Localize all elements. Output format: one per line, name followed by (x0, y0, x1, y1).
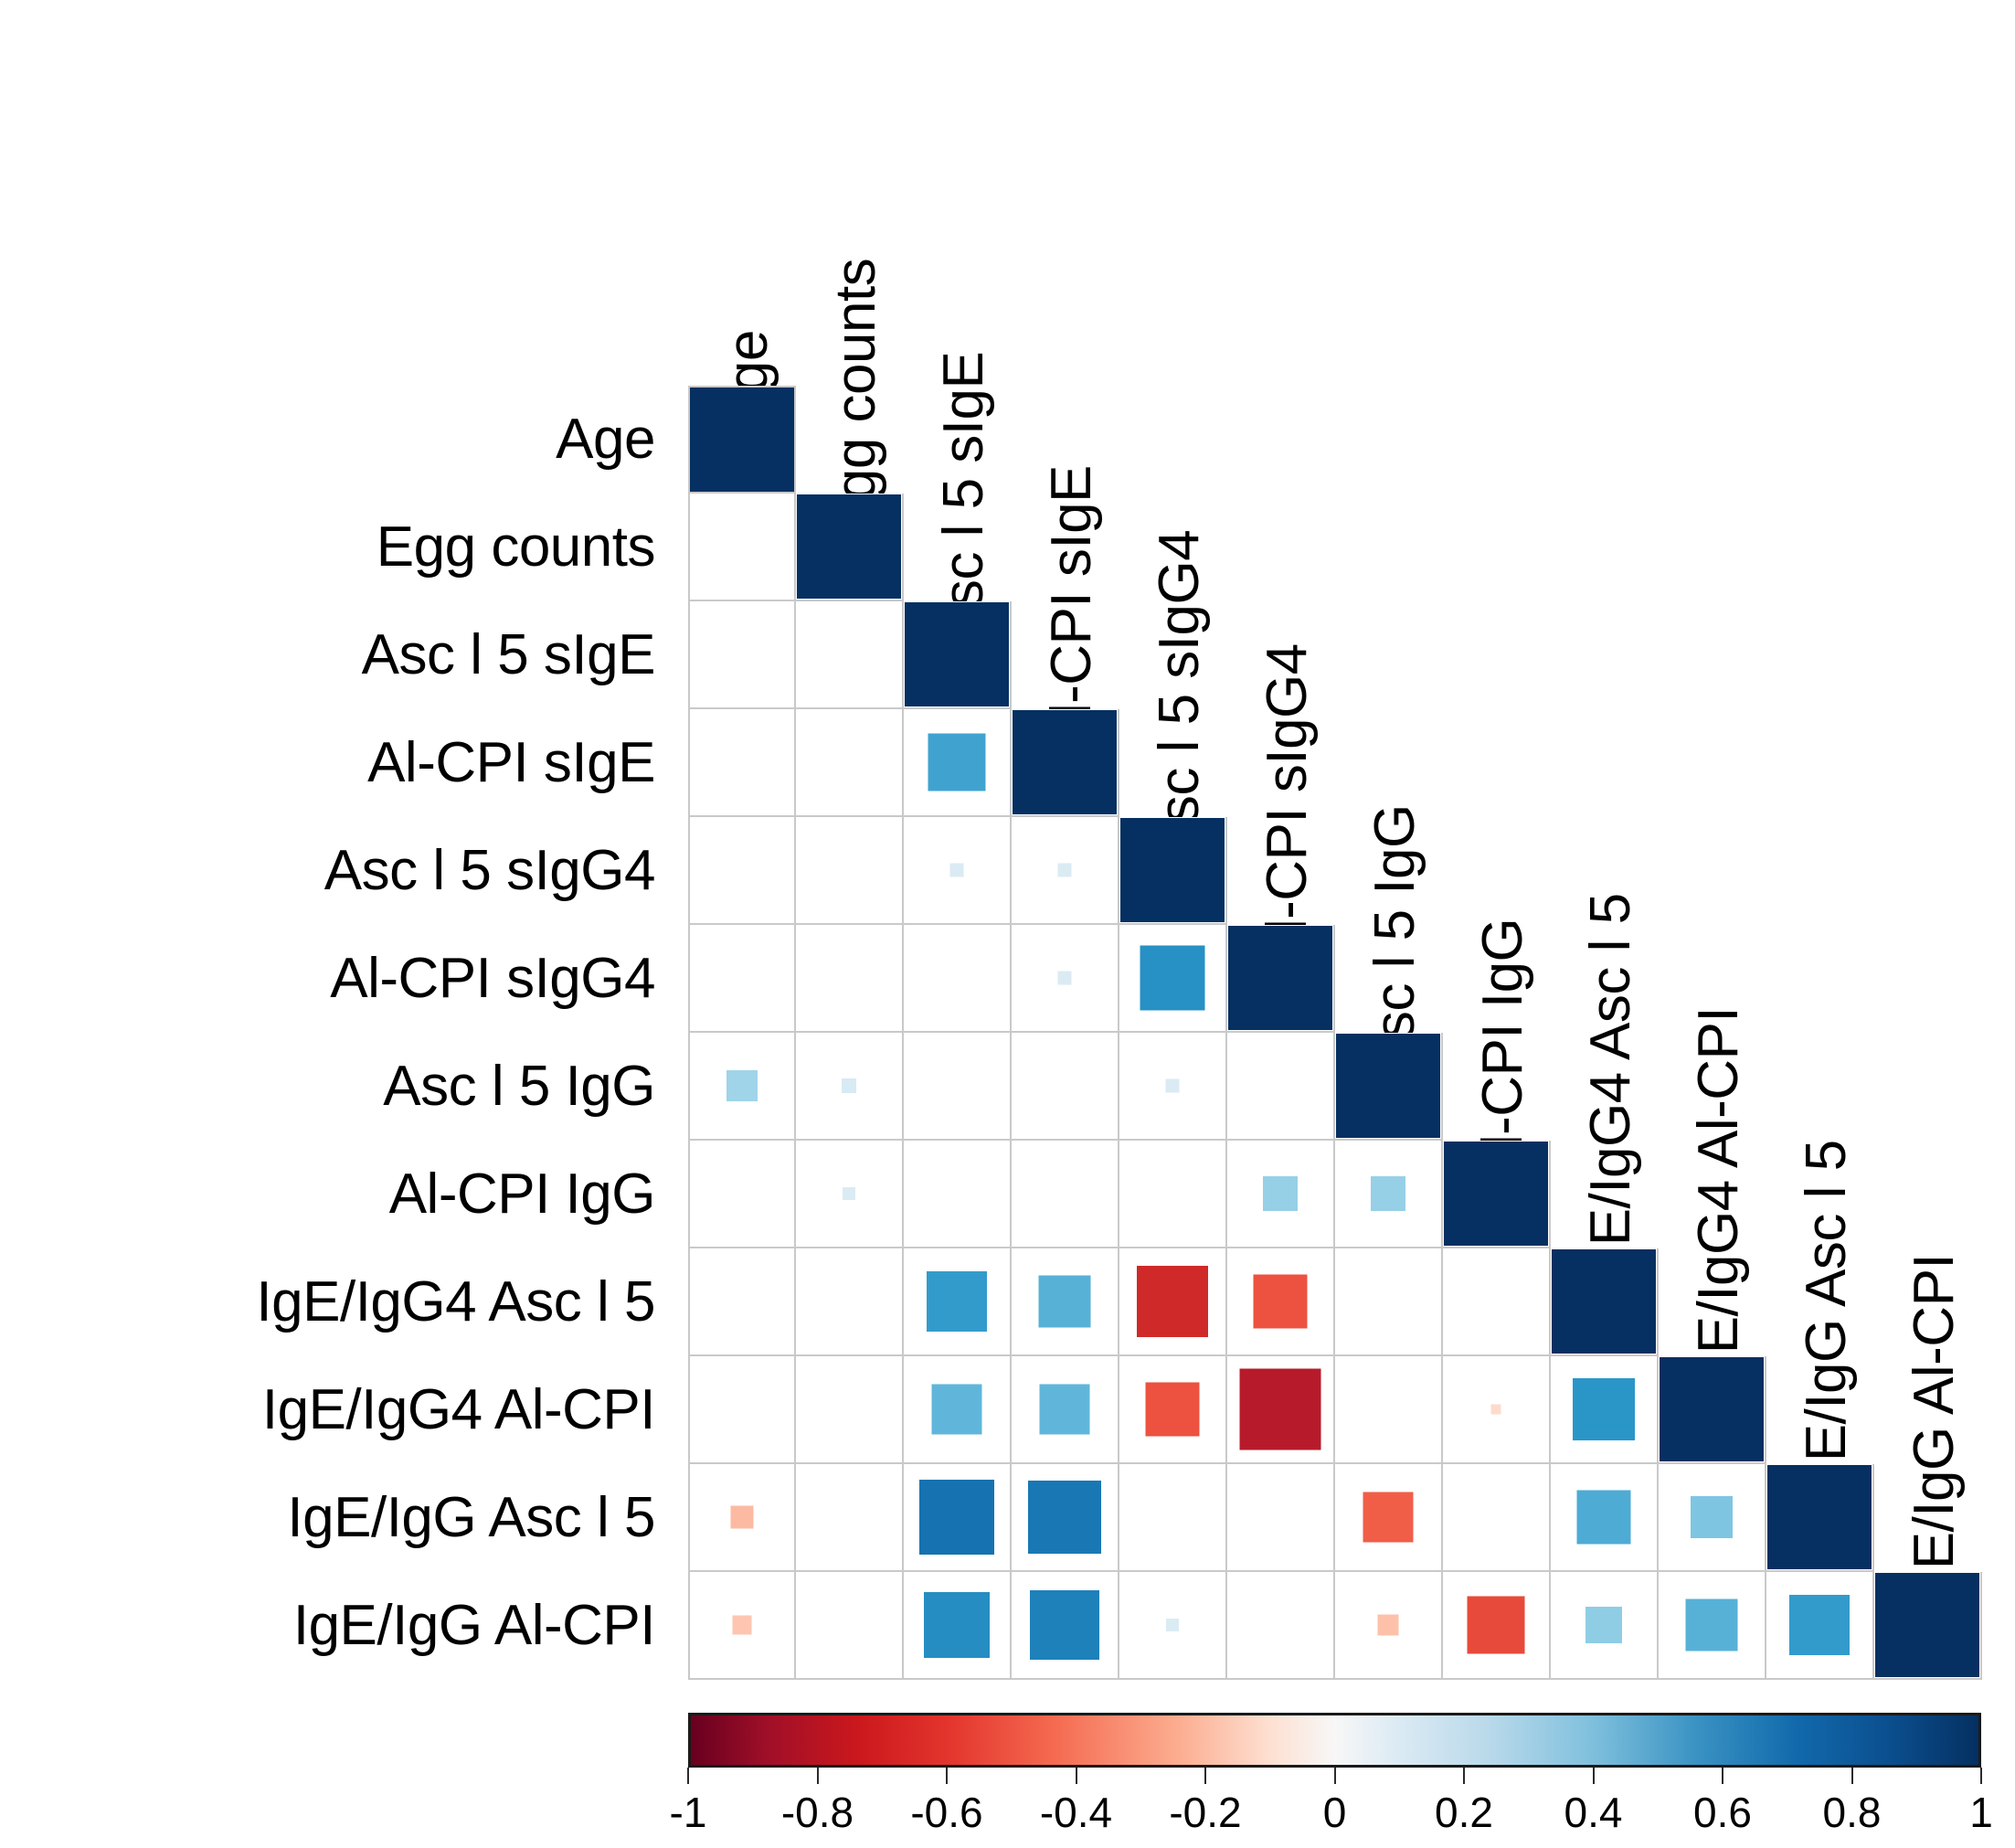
colorbar-tick-label: -0.6 (910, 1788, 982, 1837)
matrix-cell (1766, 1464, 1874, 1572)
matrix-cell (1012, 1033, 1119, 1141)
row-label: Asc l 5 sIgE (0, 601, 672, 709)
correlation-square (690, 388, 794, 492)
matrix-row (688, 1248, 1982, 1356)
correlation-square (731, 1506, 754, 1529)
correlation-square (1585, 1607, 1622, 1643)
matrix-cell (688, 1248, 796, 1356)
correlation-square (1691, 1496, 1733, 1538)
matrix-row (688, 925, 1982, 1033)
colorbar-tick-label: -1 (670, 1788, 707, 1837)
colorbar-tick-label: -0.2 (1169, 1788, 1241, 1837)
matrix-row (688, 709, 1982, 817)
matrix-row (688, 1141, 1982, 1248)
correlation-square (1767, 1465, 1872, 1569)
matrix-cell (1335, 1464, 1443, 1572)
correlation-square (1660, 1357, 1764, 1461)
correlation-square (1137, 1266, 1208, 1337)
matrix-cell (1227, 1572, 1335, 1680)
colorbar-tick (946, 1768, 948, 1784)
matrix-cell (796, 1033, 904, 1141)
matrix-row (688, 494, 1982, 601)
colorbar-tick (1334, 1768, 1336, 1784)
correlation-square (1146, 1383, 1200, 1437)
matrix-cell (1443, 1572, 1551, 1680)
colorbar-tick-label-group: -1-0.8-0.6-0.4-0.200.20.40.60.81 (688, 1784, 1981, 1848)
matrix-cell (904, 925, 1012, 1033)
matrix-cell (796, 1141, 904, 1248)
correlation-square (726, 1070, 758, 1101)
matrix-cell (904, 1033, 1012, 1141)
colorbar-tick-group (688, 1768, 1981, 1784)
correlation-square (1875, 1573, 1979, 1677)
colorbar-tick (1463, 1768, 1465, 1784)
correlation-square (1371, 1176, 1405, 1211)
matrix-cell (796, 709, 904, 817)
correlation-square (1363, 1492, 1414, 1543)
matrix-row (688, 386, 1982, 494)
matrix-cell (904, 601, 1012, 709)
correlation-square (1686, 1599, 1738, 1652)
row-label: Age (0, 386, 672, 494)
matrix-cell (1012, 1141, 1119, 1248)
matrix-cell (1012, 817, 1119, 925)
matrix-cell (1551, 1356, 1659, 1464)
colorbar-gradient (688, 1713, 1981, 1768)
matrix-row (688, 1572, 1982, 1680)
correlation-square (1058, 972, 1072, 985)
colorbar-legend: -1-0.8-0.6-0.4-0.200.20.40.60.81 (688, 1713, 1981, 1848)
matrix-cell (1659, 1464, 1766, 1572)
matrix-cell (1335, 1033, 1443, 1141)
correlation-square (843, 1187, 855, 1200)
correlation-square (1240, 1369, 1321, 1450)
row-label: Asc l 5 IgG (0, 1033, 672, 1141)
matrix-cell (796, 1464, 904, 1572)
correlation-square (950, 864, 964, 877)
matrix-cell (688, 494, 796, 601)
matrix-cell (1012, 1248, 1119, 1356)
matrix-cell (1227, 925, 1335, 1033)
matrix-cell (904, 1572, 1012, 1680)
matrix-cell (1227, 1248, 1335, 1356)
matrix-cell (1012, 709, 1119, 817)
correlation-square (1254, 1275, 1308, 1329)
matrix-cell (1227, 1356, 1335, 1464)
matrix-cell (1335, 1248, 1443, 1356)
correlation-square (1468, 1597, 1525, 1654)
matrix-cell (796, 494, 904, 601)
matrix-cell (1443, 1356, 1551, 1464)
correlation-square (797, 494, 901, 599)
matrix-cell (904, 1464, 1012, 1572)
colorbar-tick-label: 0 (1323, 1788, 1347, 1837)
correlation-square (1166, 1619, 1179, 1631)
correlation-grid (688, 386, 1982, 1680)
matrix-cell (1443, 1141, 1551, 1248)
matrix-cell (1012, 1464, 1119, 1572)
matrix-cell (904, 1141, 1012, 1248)
colorbar-tick (817, 1768, 819, 1784)
matrix-cell (796, 925, 904, 1033)
correlation-square (1028, 1481, 1101, 1554)
colorbar-tick-label: 0.2 (1435, 1788, 1493, 1837)
correlation-square (928, 734, 986, 791)
colorbar-tick-label: 0.8 (1823, 1788, 1882, 1837)
correlation-square (1228, 926, 1332, 1030)
matrix-cell (688, 386, 796, 494)
matrix-cell (796, 817, 904, 925)
correlation-square (1491, 1405, 1501, 1415)
matrix-cell (1551, 1248, 1659, 1356)
matrix-cell (1335, 1141, 1443, 1248)
matrix-cell (688, 1141, 796, 1248)
matrix-cell (1119, 1141, 1227, 1248)
correlation-square (1577, 1491, 1631, 1545)
matrix-cell (1335, 1356, 1443, 1464)
matrix-cell (1443, 1464, 1551, 1572)
matrix-cell (1012, 1356, 1119, 1464)
matrix-cell (1874, 1572, 1982, 1680)
colorbar-tick-label: 0.4 (1564, 1788, 1623, 1837)
correlation-square (1058, 864, 1072, 877)
row-label: Al-CPI IgG (0, 1141, 672, 1248)
matrix-cell (1119, 925, 1227, 1033)
matrix-cell (1012, 925, 1119, 1033)
row-label: Al-CPI sIgE (0, 709, 672, 817)
matrix-cell (688, 1033, 796, 1141)
matrix-cell (1659, 1572, 1766, 1680)
correlation-matrix-figure: AgeEgg countsAsc l 5 sIgEAl-CPI sIgEAsc … (0, 0, 2015, 1838)
matrix-cell (688, 1572, 796, 1680)
correlation-square (927, 1271, 987, 1332)
correlation-square (1140, 946, 1205, 1011)
correlation-square (1444, 1142, 1548, 1246)
matrix-row (688, 1033, 1982, 1141)
matrix-cell (1012, 1572, 1119, 1680)
matrix-cell (1227, 1033, 1335, 1141)
colorbar-tick (1593, 1768, 1595, 1784)
matrix-cell (688, 601, 796, 709)
correlation-square (1552, 1249, 1656, 1354)
correlation-square (1166, 1079, 1180, 1093)
matrix-cell (1227, 1141, 1335, 1248)
colorbar-tick (1980, 1768, 1982, 1784)
matrix-row (688, 1356, 1982, 1464)
matrix-cell (1119, 1464, 1227, 1572)
matrix-cell (1119, 1572, 1227, 1680)
matrix-cell (1551, 1464, 1659, 1572)
matrix-cell (796, 601, 904, 709)
correlation-square (1039, 1276, 1091, 1328)
matrix-cell (1119, 817, 1227, 925)
correlation-square (842, 1078, 856, 1093)
row-label: IgE/IgG Asc l 5 (0, 1464, 672, 1572)
colorbar-tick (1722, 1768, 1723, 1784)
correlation-square (1120, 818, 1225, 922)
matrix-cell (904, 817, 1012, 925)
colorbar-tick (1204, 1768, 1206, 1784)
row-label: IgE/IgG Al-CPI (0, 1572, 672, 1680)
row-label: Al-CPI sIgG4 (0, 925, 672, 1033)
colorbar-tick-label: -0.8 (781, 1788, 854, 1837)
row-label: Egg counts (0, 494, 672, 601)
matrix-row (688, 1464, 1982, 1572)
matrix-cell (688, 817, 796, 925)
matrix-cell (1551, 1572, 1659, 1680)
matrix-cell (1119, 1356, 1227, 1464)
row-label-group: AgeEgg countsAsc l 5 sIgEAl-CPI sIgEAsc … (0, 386, 672, 1680)
row-label: IgE/IgG4 Al-CPI (0, 1356, 672, 1464)
colorbar-tick-label: 0.6 (1693, 1788, 1752, 1837)
matrix-cell (688, 1356, 796, 1464)
correlation-square (905, 602, 1009, 706)
correlation-square (1263, 1176, 1298, 1211)
matrix-cell (796, 1248, 904, 1356)
correlation-square (919, 1480, 994, 1555)
matrix-cell (1766, 1572, 1874, 1680)
matrix-cell (1119, 1033, 1227, 1141)
matrix-cell (904, 1248, 1012, 1356)
matrix-cell (688, 925, 796, 1033)
colorbar-tick (687, 1768, 689, 1784)
correlation-square (1336, 1034, 1440, 1138)
correlation-square (1040, 1385, 1090, 1435)
colorbar-tick-label: -0.4 (1040, 1788, 1112, 1837)
matrix-cell (1335, 1572, 1443, 1680)
matrix-cell (796, 1356, 904, 1464)
correlation-square (1789, 1595, 1850, 1655)
matrix-cell (1119, 1248, 1227, 1356)
matrix-cell (1227, 1464, 1335, 1572)
row-label: IgE/IgG4 Asc l 5 (0, 1248, 672, 1356)
matrix-cell (688, 709, 796, 817)
matrix-cell (688, 1464, 796, 1572)
colorbar-tick-label: 1 (1969, 1788, 1993, 1837)
correlation-square (1378, 1615, 1399, 1636)
matrix-cell (1443, 1248, 1551, 1356)
correlation-square (1013, 710, 1117, 814)
correlation-square (1030, 1590, 1099, 1660)
matrix-cell (904, 1356, 1012, 1464)
row-label: Asc l 5 sIgG4 (0, 817, 672, 925)
correlation-square (1573, 1378, 1635, 1440)
matrix-row (688, 601, 1982, 709)
correlation-square (924, 1592, 990, 1658)
matrix-cell (796, 1572, 904, 1680)
matrix-cell (1659, 1356, 1766, 1464)
colorbar-tick (1076, 1768, 1077, 1784)
colorbar-tick (1851, 1768, 1853, 1784)
correlation-square (932, 1385, 982, 1435)
matrix-row (688, 817, 1982, 925)
correlation-square (733, 1616, 752, 1635)
matrix-cell (904, 709, 1012, 817)
